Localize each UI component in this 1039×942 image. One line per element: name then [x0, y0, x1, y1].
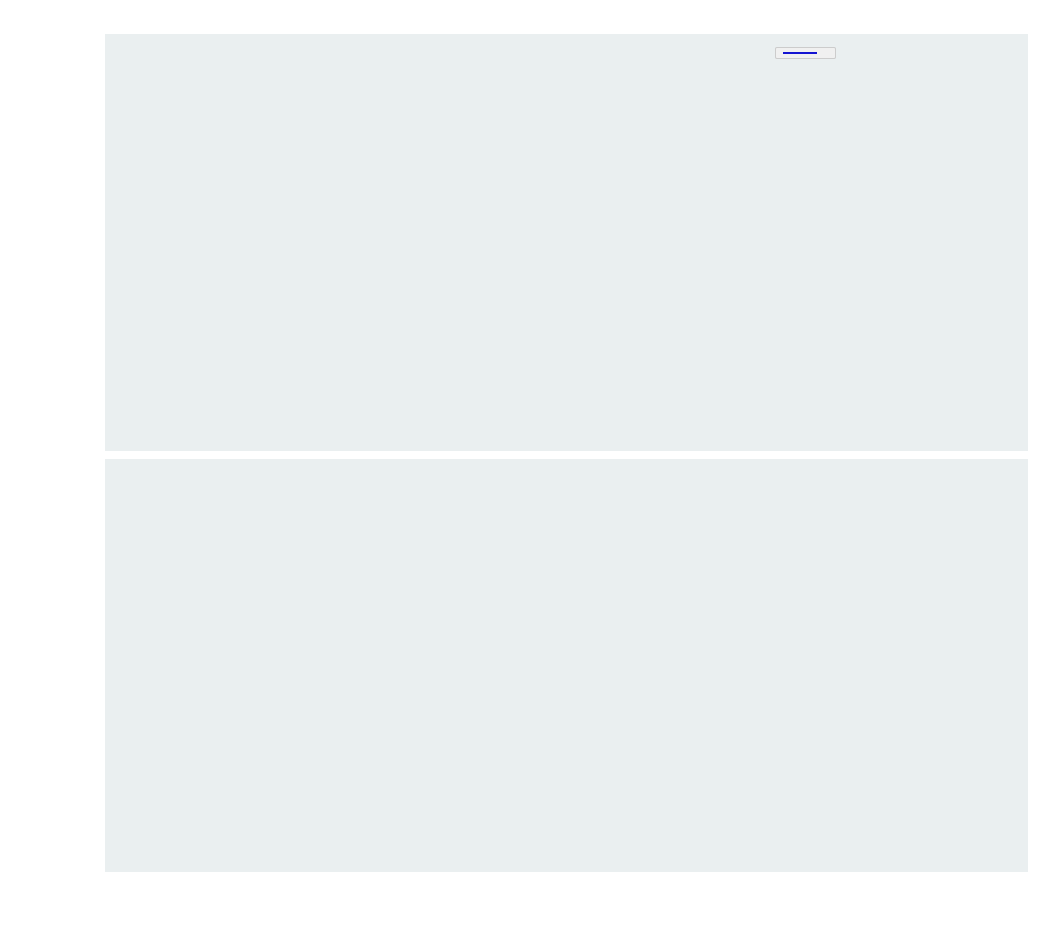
chart-figure: [0, 0, 1039, 942]
top-panel-svg: [105, 34, 1028, 451]
bottom-panel-svg: [105, 459, 1028, 872]
top-panel-plot-area: [105, 34, 1028, 451]
legend[interactable]: [775, 47, 836, 59]
bottom-panel-plot-area: [105, 459, 1028, 872]
legend-line-swatch: [783, 52, 817, 54]
